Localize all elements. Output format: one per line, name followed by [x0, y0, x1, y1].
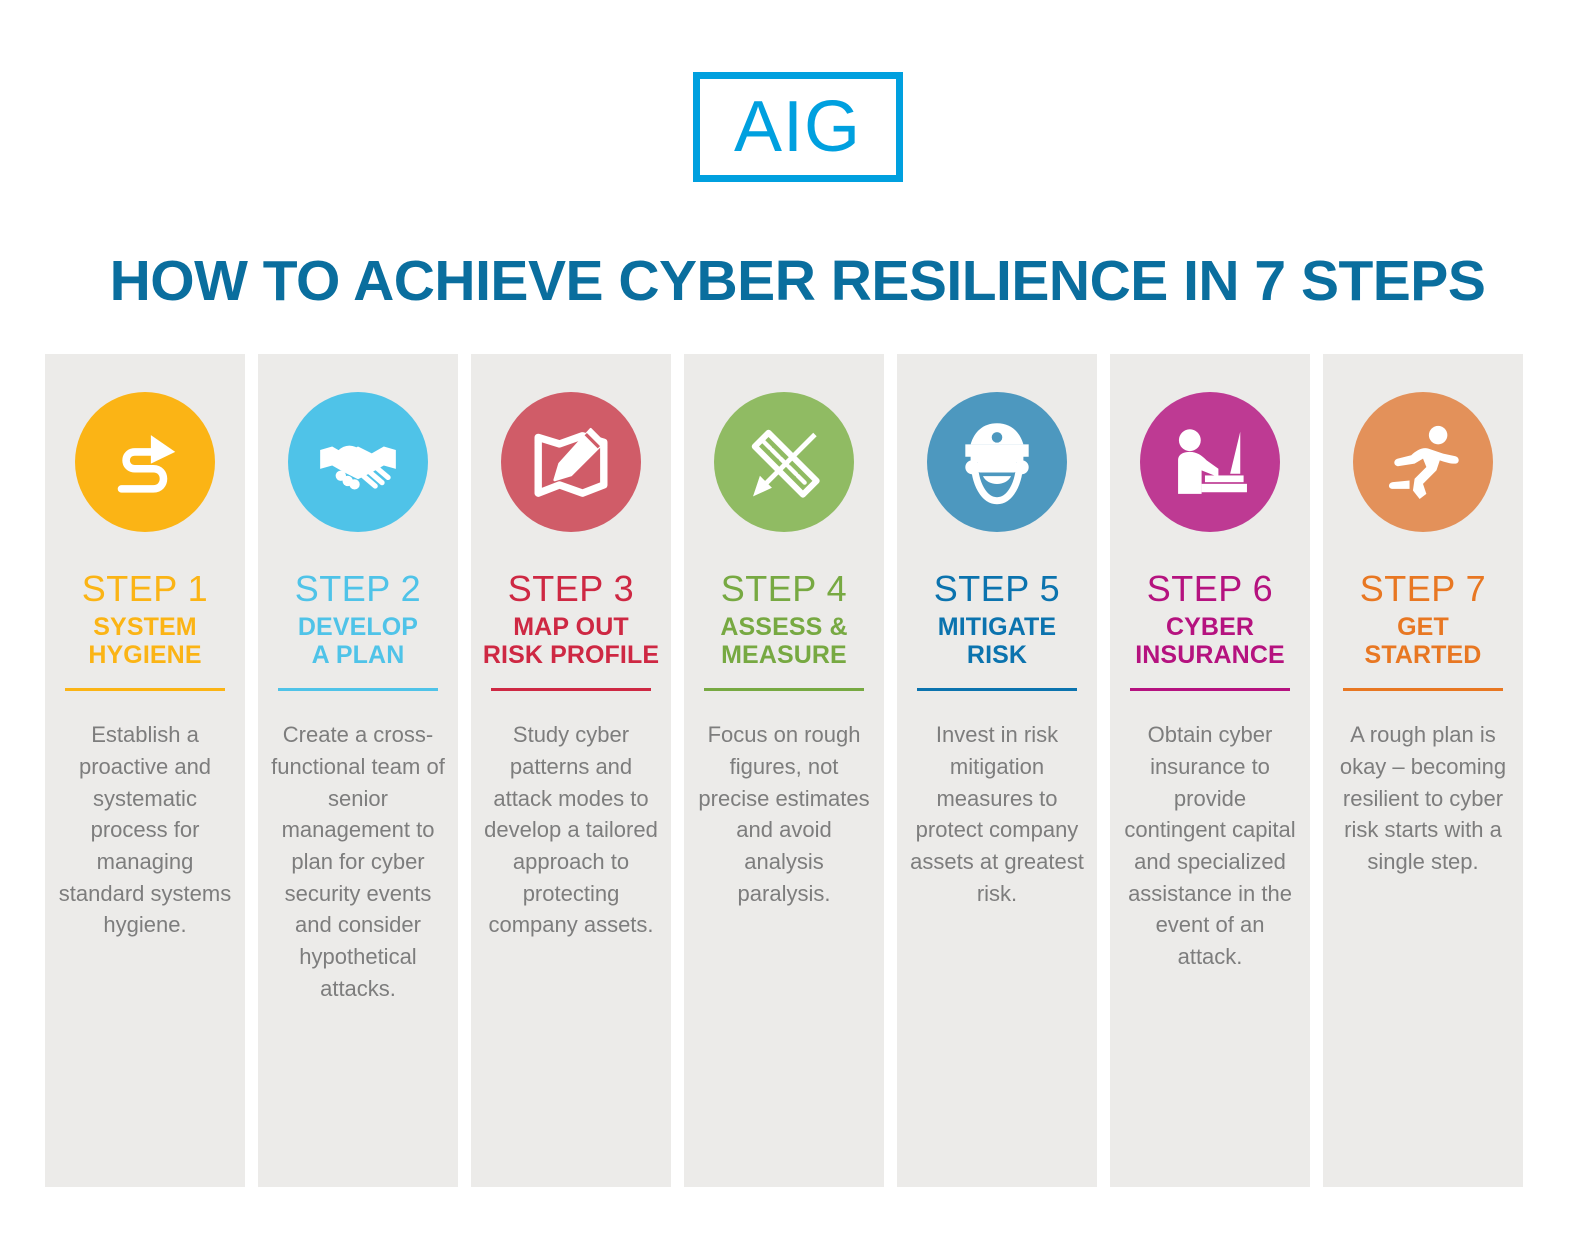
step-title: CYBERINSURANCE: [1135, 613, 1285, 669]
step-column-4: STEP 4ASSESS &MEASUREFocus on rough figu…: [684, 354, 884, 1187]
step-title-line-2: A PLAN: [312, 641, 405, 669]
step-title: MAP OUTRISK PROFILE: [483, 613, 659, 669]
step-divider: [65, 688, 225, 691]
step-title: GETSTARTED: [1365, 613, 1482, 669]
step-title-line-2: HYGIENE: [88, 641, 201, 669]
step-title-line-2: INSURANCE: [1135, 641, 1285, 669]
step-column-5: STEP 5MITIGATERISKInvest in risk mitigat…: [897, 354, 1097, 1187]
aig-logo-box: AIG: [693, 72, 903, 182]
step-divider: [1130, 688, 1290, 691]
step-number-label: STEP 4: [721, 570, 847, 608]
step-title-line-1: ASSESS &: [720, 613, 847, 641]
step-divider: [278, 688, 438, 691]
step-title: ASSESS &MEASURE: [720, 613, 847, 669]
step-description: Focus on rough figures, not precise esti…: [696, 719, 872, 909]
step-title-line-1: SYSTEM: [93, 613, 196, 641]
infographic-page: AIG HOW TO ACHIEVE CYBER RESILIENCE IN 7…: [0, 0, 1595, 1233]
step-column-6: STEP 6CYBERINSURANCEObtain cyber insuran…: [1110, 354, 1310, 1187]
winding-path-arrow-icon: [75, 392, 215, 532]
step-column-3: STEP 3MAP OUTRISK PROFILEStudy cyber pat…: [471, 354, 671, 1187]
step-title-line-1: CYBER: [1166, 613, 1254, 641]
step-column-1: STEP 1SYSTEMHYGIENEEstablish a proactive…: [45, 354, 245, 1187]
aig-logo-text: AIG: [734, 91, 861, 163]
step-number-label: STEP 1: [82, 570, 208, 608]
ruler-and-pencil-icon: [714, 392, 854, 532]
steps-container: STEP 1SYSTEMHYGIENEEstablish a proactive…: [45, 354, 1523, 1187]
step-title-line-2: MEASURE: [721, 641, 847, 669]
handshake-icon: [288, 392, 428, 532]
step-column-7: STEP 7GETSTARTEDA rough plan is okay – b…: [1323, 354, 1523, 1187]
step-description: Create a cross-functional team of senior…: [270, 719, 446, 1004]
step-title-line-1: MITIGATE: [938, 613, 1056, 641]
step-title-line-2: RISK PROFILE: [483, 641, 659, 669]
step-description: A rough plan is okay – becoming resilien…: [1335, 719, 1511, 877]
step-number-label: STEP 2: [295, 570, 421, 608]
step-number-label: STEP 7: [1360, 570, 1486, 608]
step-divider: [917, 688, 1077, 691]
step-number-label: STEP 6: [1147, 570, 1273, 608]
step-title-line-1: GET: [1397, 613, 1449, 641]
police-officer-icon: [927, 392, 1067, 532]
step-title-line-1: MAP OUT: [513, 613, 629, 641]
step-divider: [704, 688, 864, 691]
step-description: Study cyber patterns and attack modes to…: [483, 719, 659, 941]
step-divider: [1343, 688, 1503, 691]
step-title: SYSTEMHYGIENE: [88, 613, 201, 669]
brand-logo: AIG: [0, 72, 1595, 182]
step-divider: [491, 688, 651, 691]
step-column-2: STEP 2DEVELOPA PLANCreate a cross-functi…: [258, 354, 458, 1187]
step-title-line-2: STARTED: [1365, 641, 1482, 669]
step-title-line-2: RISK: [967, 641, 1027, 669]
step-number-label: STEP 3: [508, 570, 634, 608]
map-with-pencil-icon: [501, 392, 641, 532]
step-number-label: STEP 5: [934, 570, 1060, 608]
step-description: Obtain cyber insurance to provide contin…: [1122, 719, 1298, 972]
step-title-line-1: DEVELOP: [298, 613, 418, 641]
person-at-computer-icon: [1140, 392, 1280, 532]
step-title: DEVELOPA PLAN: [298, 613, 418, 669]
step-description: Invest in risk mitigation measures to pr…: [909, 719, 1085, 909]
page-title: HOW TO ACHIEVE CYBER RESILIENCE IN 7 STE…: [0, 248, 1595, 314]
step-description: Establish a proactive and systematic pro…: [57, 719, 233, 941]
step-title: MITIGATERISK: [938, 613, 1056, 669]
running-person-icon: [1353, 392, 1493, 532]
